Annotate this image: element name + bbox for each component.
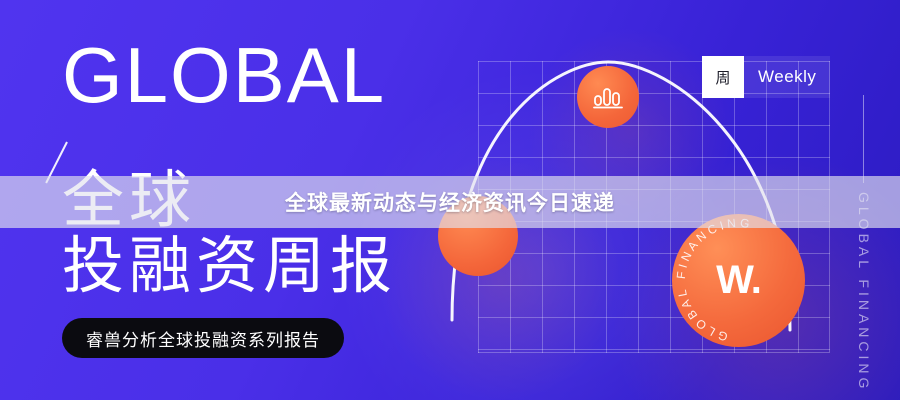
brand-logo-circle: GLOBAL FINANCING W.: [672, 214, 805, 347]
weekly-badge[interactable]: 周 Weekly: [702, 56, 830, 98]
overlay-headline-band: 全球最新动态与经济资讯今日速递: [0, 176, 900, 228]
series-report-pill-label: 睿兽分析全球投融资系列报告: [86, 326, 320, 351]
chart-circle-node: [577, 66, 639, 128]
promo-banner: GLOBAL 全球 投融资周报 睿兽分析全球投融资系列报告 周 Weekly: [0, 0, 900, 400]
bar-chart-icon: [593, 84, 623, 110]
page-title-en: GLOBAL: [62, 36, 386, 114]
overlay-headline-text: 全球最新动态与经济资讯今日速递: [0, 187, 900, 217]
weekly-badge-square: 周: [702, 56, 744, 98]
series-report-pill[interactable]: 睿兽分析全球投融资系列报告: [62, 318, 344, 358]
vertical-rule: [863, 95, 864, 183]
weekly-badge-label: Weekly: [744, 56, 830, 98]
page-title-cn-line2: 投融资周报: [62, 234, 397, 300]
logo-monogram: W.: [672, 214, 805, 347]
